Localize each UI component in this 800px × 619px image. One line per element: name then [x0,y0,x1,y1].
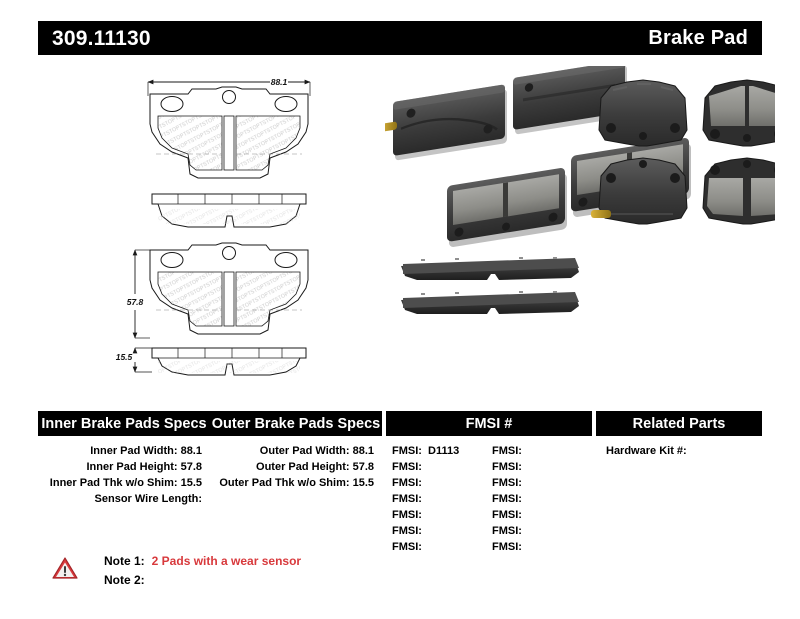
related-parts-cell: Hardware Kit #: [596,443,762,555]
fmsi-entry: FMSI: [392,475,492,491]
fmsi-column-left: FMSI: D1113 FMSI: FMSI: FMSI: FMSI: FMSI… [392,443,492,555]
header-bar: 309.11130 Brake Pad [38,21,762,55]
fmsi-entry: FMSI: [392,539,492,555]
fmsi-entry: FMSI: [392,491,492,507]
fmsi-entry: FMSI: [492,459,592,475]
dimension-width-label: 88.1 [271,77,288,87]
spec-line: Outer Pad Height: 57.8 [210,459,374,475]
spec-line: Inner Pad Thk w/o Shim: 15.5 [38,475,202,491]
spec-table: Inner Brake Pads Specs Outer Brake Pads … [38,411,762,555]
spec-table-header-row: Inner Brake Pads Specs Outer Brake Pads … [38,411,762,436]
spec-table-body-row: Inner Pad Width: 88.1 Inner Pad Height: … [38,443,762,555]
note-1-label: Note 1: [104,554,145,568]
fmsi-entry: FMSI: [492,443,592,459]
fmsi-entry: FMSI: [392,523,492,539]
spec-line: Inner Pad Width: 88.1 [38,443,202,459]
brake-pad-dimension-drawing: STOPTECH 88.1 [110,66,380,386]
technical-drawings: STOPTECH 88.1 [110,66,380,386]
note-1-row: Note 1:2 Pads with a wear sensor [104,552,301,571]
fmsi-entry: FMSI: [392,459,492,475]
column-header-related-parts: Related Parts [596,411,762,436]
product-spec-sheet: 309.11130 Brake Pad STOPTECH 88. [0,0,800,619]
photo-edge-profile-pair [401,258,579,314]
dimension-thickness-label: 15.5 [116,352,133,362]
fmsi-entry: FMSI: [492,491,592,507]
spec-line: Outer Pad Width: 88.1 [210,443,374,459]
related-part-entry: Hardware Kit #: [606,443,762,459]
part-number: 309.11130 [52,28,151,49]
page-title: Brake Pad [648,28,748,48]
fmsi-entry: FMSI: [392,507,492,523]
inner-specs-cell: Inner Pad Width: 88.1 Inner Pad Height: … [38,443,210,555]
fmsi-entry: FMSI: [492,539,592,555]
brake-pad-photographs [385,66,775,386]
note-1-value: 2 Pads with a wear sensor [152,554,301,568]
fmsi-entry: FMSI: D1113 [392,443,492,459]
spec-line: Inner Pad Height: 57.8 [38,459,202,475]
fmsi-entry: FMSI: [492,507,592,523]
fmsi-entry: FMSI: [492,475,592,491]
column-header-outer-specs: Outer Brake Pads Specs [210,411,382,436]
wear-sensor-tab [591,210,611,218]
notes-section: Note 1:2 Pads with a wear sensor Note 2: [52,552,301,590]
outer-specs-cell: Outer Pad Width: 88.1 Outer Pad Height: … [210,443,382,555]
product-photos [385,66,775,386]
spec-line: Outer Pad Thk w/o Shim: 15.5 [210,475,374,491]
column-header-inner-specs: Inner Brake Pads Specs [38,411,210,436]
fmsi-entry: FMSI: [492,523,592,539]
note-2-label: Note 2: [104,573,145,587]
dimension-height-label: 57.8 [127,297,144,307]
fmsi-column-right: FMSI: FMSI: FMSI: FMSI: FMSI: FMSI: FMSI… [492,443,592,555]
spec-line: Sensor Wire Length: [38,491,202,507]
warning-triangle-icon [52,556,78,580]
notes-text: Note 1:2 Pads with a wear sensor Note 2: [104,552,301,590]
column-header-fmsi: FMSI # [386,411,592,436]
fmsi-cell: FMSI: D1113 FMSI: FMSI: FMSI: FMSI: FMSI… [386,443,592,555]
note-2-row: Note 2: [104,571,301,590]
